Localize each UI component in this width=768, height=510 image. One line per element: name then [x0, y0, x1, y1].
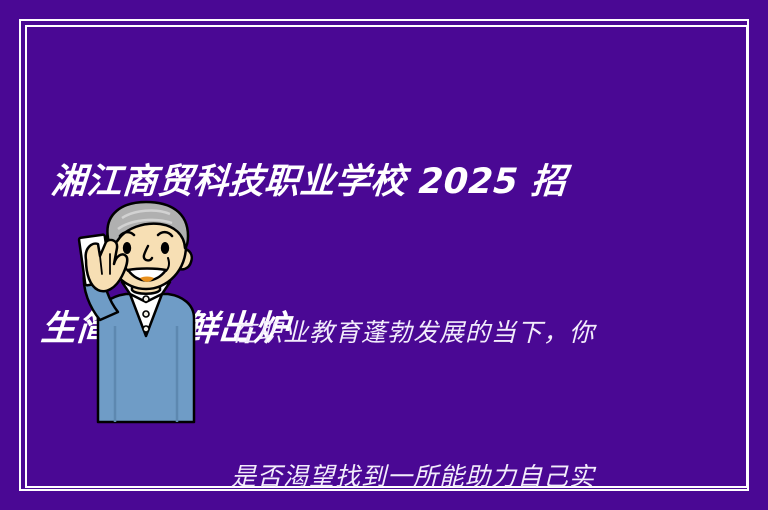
body-line-1: 在职业教育蓬勃发展的当下，你	[231, 309, 651, 357]
poster-canvas: 湘江商贸科技职业学校 2025 招 生简章新鲜出炉	[0, 0, 768, 510]
body-paragraph: 在职业教育蓬勃发展的当下，你 是否渴望找到一所能助力自己实 现大学梦，又能掌握实…	[231, 213, 651, 510]
body-line-2: 是否渴望找到一所能助力自己实	[231, 453, 651, 501]
elderly-man-on-phone-illustration	[60, 198, 210, 460]
